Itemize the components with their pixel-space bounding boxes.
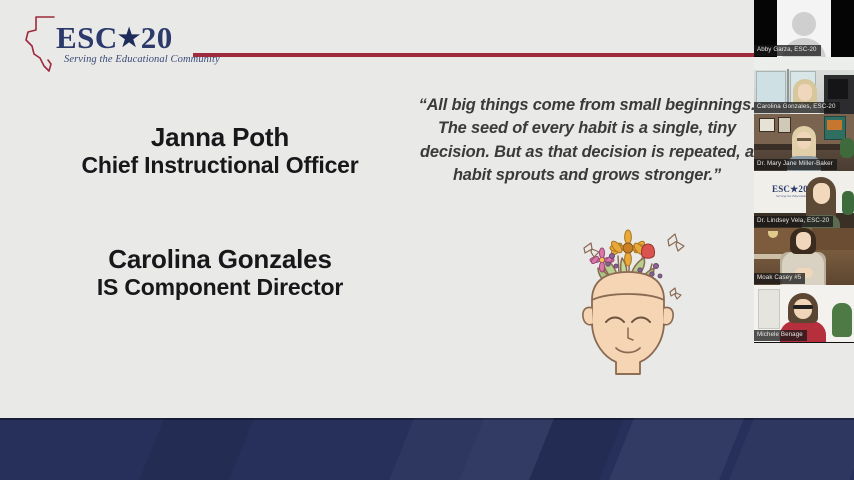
avatar-icon xyxy=(792,12,816,36)
video-tile-abby-garza[interactable]: Abby Garza, ESC-20 xyxy=(754,0,854,57)
participant-name-label: Dr. Lindsey Vela, ESC-20 xyxy=(754,216,833,227)
person-glasses xyxy=(797,138,811,141)
scene-plant xyxy=(832,303,852,337)
person-face xyxy=(796,232,811,250)
person-face xyxy=(813,183,830,204)
participant-name-label: Dr. Mary Jane Miller-Baker xyxy=(754,159,837,170)
scene-picture-frame xyxy=(778,117,791,133)
scene-monitor xyxy=(828,79,848,99)
scene-window xyxy=(756,71,786,105)
scene-plant xyxy=(840,138,854,158)
presenter-item: Carolina Gonzales IS Component Director xyxy=(0,244,440,302)
participant-video-strip[interactable]: Abby Garza, ESC-20 Carolina Gonzales, ES… xyxy=(754,0,854,343)
person-glasses xyxy=(793,305,813,309)
star-icon: ★ xyxy=(118,25,141,52)
participant-name-label: Abby Garza, ESC-20 xyxy=(754,45,821,56)
person-face xyxy=(794,299,812,319)
presenter-title: Chief Instructional Officer xyxy=(0,152,440,179)
scene-plant xyxy=(842,191,854,215)
logo-wordmark: ESC★20 xyxy=(56,22,173,53)
participant-name-label: Michele Benage xyxy=(754,330,807,341)
presenter-name: Carolina Gonzales xyxy=(0,244,440,274)
video-tile-carolina-gonzales[interactable]: Carolina Gonzales, ESC-20 xyxy=(754,57,854,114)
band-stripe xyxy=(128,418,262,480)
video-tile-moak-casey-5[interactable]: Moak Casey #5 xyxy=(754,228,854,285)
scene-picture-frame xyxy=(759,118,775,132)
quote-text: “All big things come from small beginnin… xyxy=(404,94,770,187)
video-tile-michele-benage[interactable]: Michele Benage xyxy=(754,285,854,342)
presenter-name: Janna Poth xyxy=(0,122,440,152)
presenter-title: IS Component Director xyxy=(0,274,440,301)
presenter-item: Janna Poth Chief Instructional Officer xyxy=(0,122,440,180)
esc20-logo: ESC★20 Serving the Educational Community xyxy=(22,14,202,76)
slide-footer-band xyxy=(0,418,854,480)
participant-name-label: Moak Casey #5 xyxy=(754,273,805,284)
scene-artwork-accent xyxy=(827,120,842,130)
band-stripe xyxy=(598,418,752,480)
presenter-list: Janna Poth Chief Instructional Officer C… xyxy=(0,122,440,301)
scene-cabinet xyxy=(812,228,854,250)
scene-ceiling xyxy=(754,57,854,70)
logo-text-20: 20 xyxy=(141,20,173,55)
scene-door xyxy=(758,289,780,329)
presentation-slide: ESC★20 Serving the Educational Community… xyxy=(0,0,854,480)
participant-name-label: Carolina Gonzales, ESC-20 xyxy=(754,102,840,113)
video-tile-lindsey-vela[interactable]: ESC★20 Serving the Educational Community… xyxy=(754,171,854,228)
person-face xyxy=(798,84,812,101)
meeting-screen-share-view: ESC★20 Serving the Educational Community… xyxy=(0,0,854,480)
video-tile-mary-jane-miller-baker[interactable]: Dr. Mary Jane Miller-Baker xyxy=(754,114,854,171)
logo-text-esc: ESC xyxy=(56,20,118,55)
head-with-flowers-illustration xyxy=(548,204,708,376)
